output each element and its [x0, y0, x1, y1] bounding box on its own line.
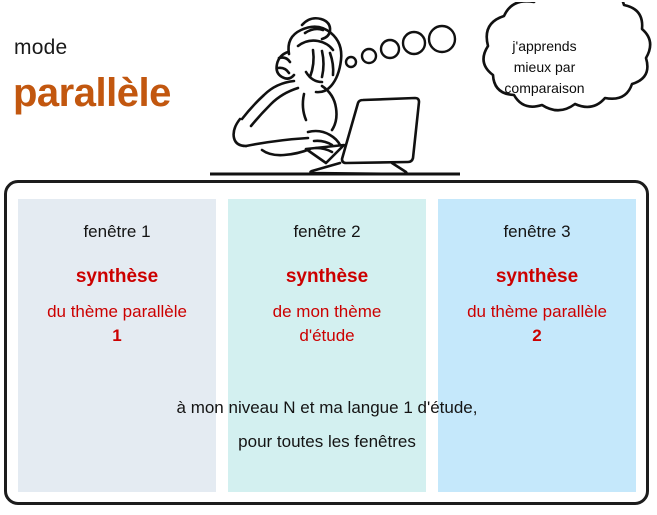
thought-bubble-text: j'apprends mieux par comparaison — [482, 36, 607, 99]
thought-bubble-line-2: mieux par — [482, 57, 607, 78]
footer-line-1: à mon niveau N et ma langue 1 d'étude, — [18, 391, 636, 425]
header-region: mode parallèle — [0, 0, 657, 178]
footer-line-2: pour toutes les fenêtres — [18, 425, 636, 459]
mode-label: mode — [14, 36, 67, 60]
thought-bubble-line-1: j'apprends — [482, 36, 607, 57]
mode-title: parallèle — [13, 70, 171, 116]
thought-bubble-line-3: comparaison — [482, 78, 607, 99]
footer-note: à mon niveau N et ma langue 1 d'étude, p… — [18, 391, 636, 459]
